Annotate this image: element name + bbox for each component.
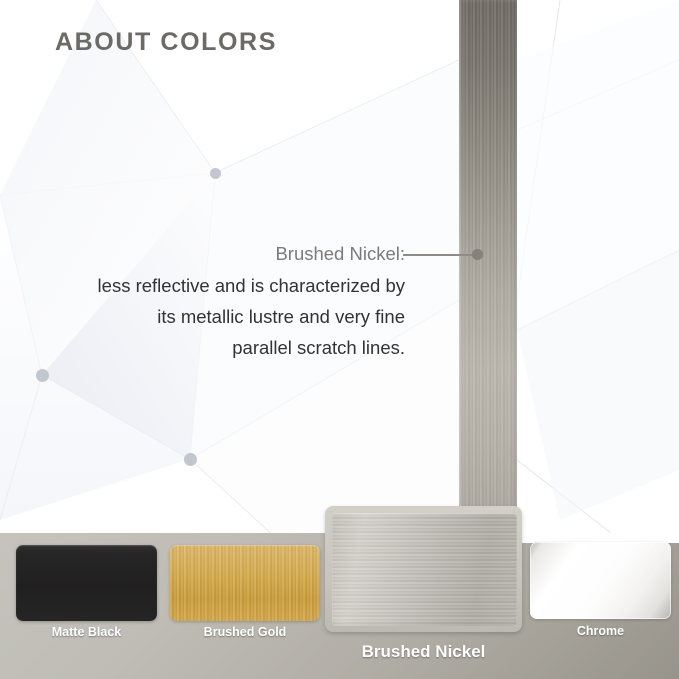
callout-line-1: less reflective and is characterized by — [40, 270, 405, 301]
swatch-label-brushed-nickel: Brushed Nickel — [325, 642, 522, 662]
brushed-nickel-strip — [459, 0, 517, 514]
page-title: ABOUT COLORS — [55, 28, 277, 57]
callout-leader-line — [403, 254, 478, 256]
callout-heading: Brushed Nickel: — [40, 238, 405, 270]
swatch-label-chrome: Chrome — [530, 624, 671, 638]
swatch-brushed-gold[interactable] — [170, 545, 320, 621]
callout-line-3: parallel scratch lines. — [40, 332, 405, 363]
node-dot — [36, 369, 49, 382]
callout-text-block: Brushed Nickel: less reflective and is c… — [40, 238, 405, 363]
swatch-matte-black[interactable] — [16, 545, 157, 621]
swatch-brushed-nickel[interactable] — [332, 513, 517, 626]
callout-line-2: its metallic lustre and very fine — [40, 301, 405, 332]
callout-leader-dot — [472, 249, 483, 260]
swatch-label-brushed-gold: Brushed Gold — [170, 625, 320, 639]
about-colors-infographic: ABOUT COLORS Brushed Nickel: less reflec… — [0, 0, 679, 679]
node-dot — [210, 168, 221, 179]
swatch-chrome[interactable] — [530, 542, 671, 619]
node-dot — [184, 453, 197, 466]
swatch-label-matte-black: Matte Black — [16, 625, 157, 639]
callout-body: less reflective and is characterized by … — [40, 270, 405, 363]
